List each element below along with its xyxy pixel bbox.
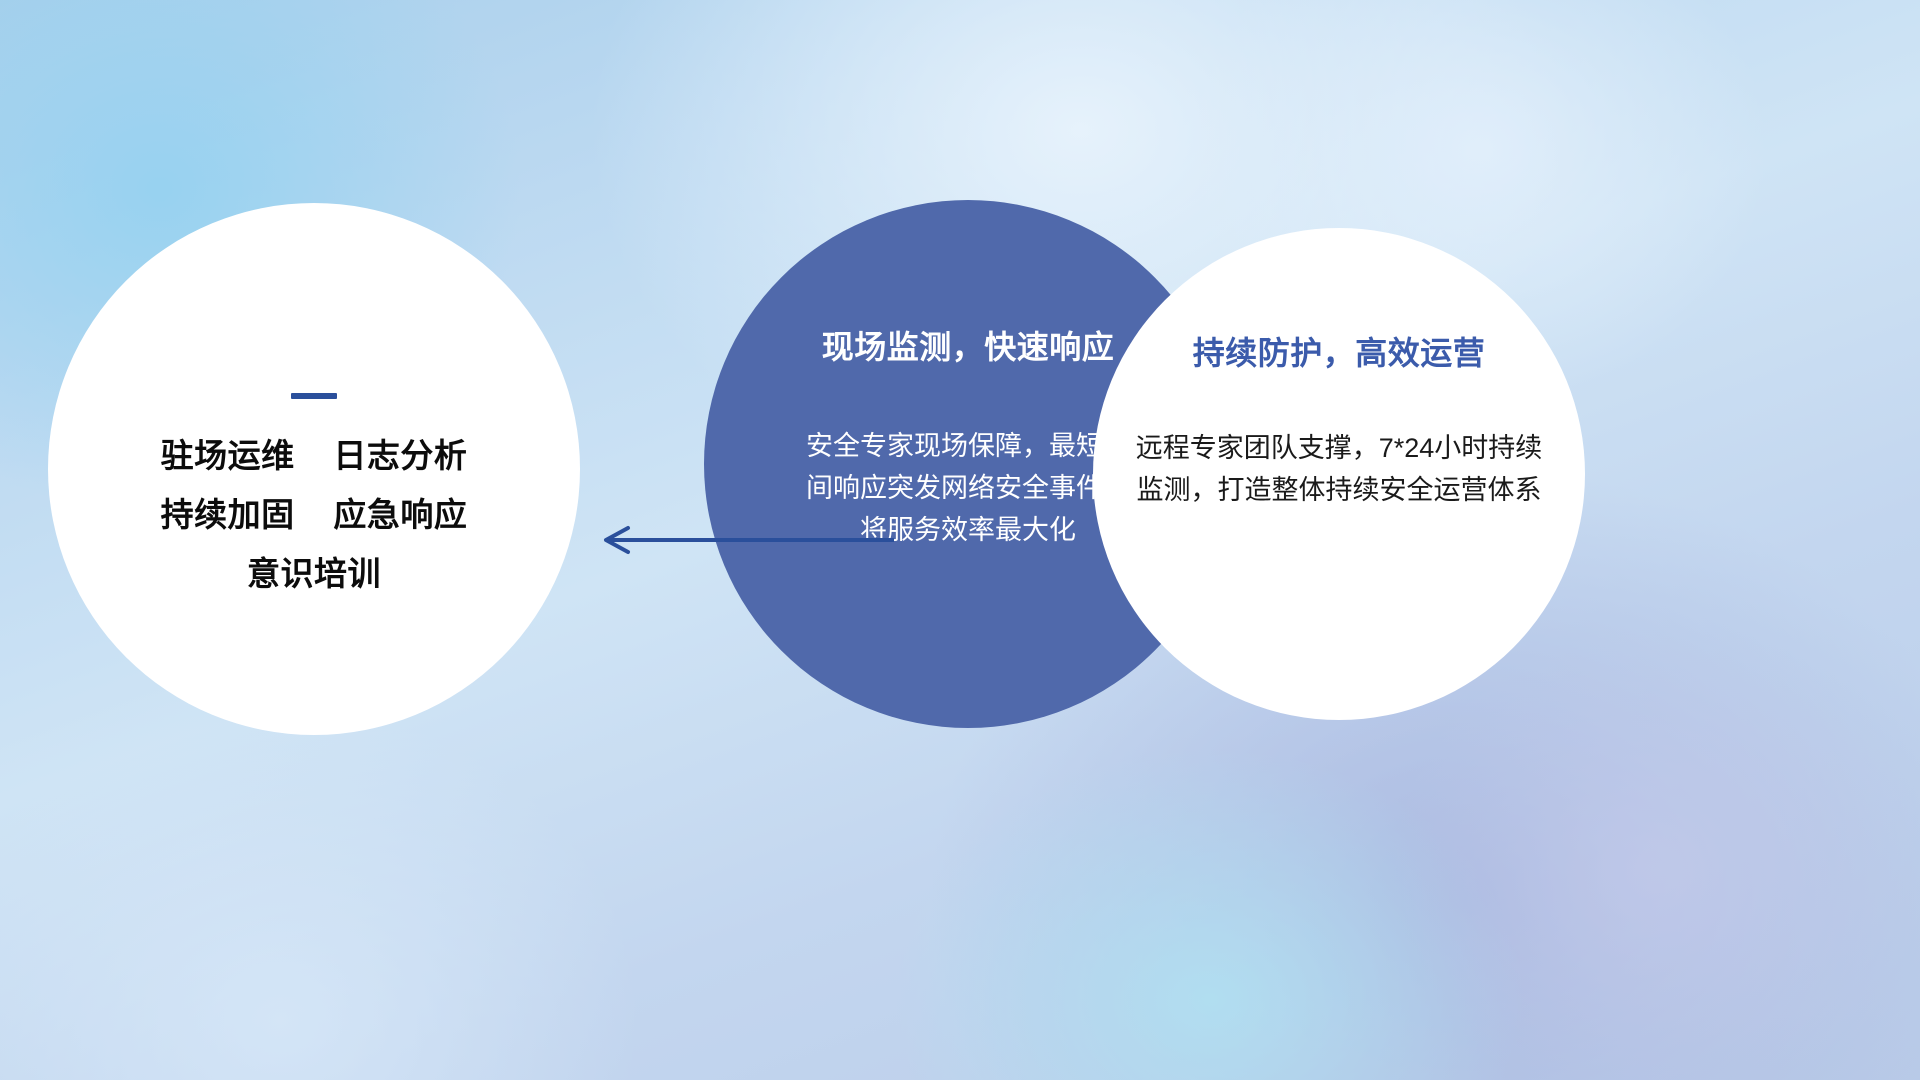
left-circle-keyword-list: 驻场运维 日志分析 持续加固 应急响应 意识培训 xyxy=(161,439,468,590)
left-circle-keyword-line: 持续加固 应急响应 xyxy=(161,498,468,531)
left-circle-keyword-line: 驻场运维 日志分析 xyxy=(161,439,468,472)
left-circle-keyword-line: 意识培训 xyxy=(161,557,468,590)
arrow-left-icon xyxy=(594,525,894,555)
middle-circle-title: 现场监测，快速响应 xyxy=(822,322,1115,368)
right-circle-title: 持续防护，高效运营 xyxy=(1193,328,1486,374)
arrow-left-icon-svg xyxy=(594,525,894,555)
right-circle-node[interactable]: 持续防护，高效运营 远程专家团队支撑，7*24小时持续监测，打造整体持续安全运营… xyxy=(1093,228,1585,720)
horizontal-dash-icon xyxy=(291,393,337,399)
diagram-stage: 现场监测，快速响应 安全专家现场保障，最短时间响应突发网络安全事件，将服务效率最… xyxy=(0,0,1920,1080)
right-circle-body: 远程专家团队支撑，7*24小时持续监测，打造整体持续安全运营体系 xyxy=(1124,428,1554,512)
left-circle-node[interactable]: 驻场运维 日志分析 持续加固 应急响应 意识培训 xyxy=(48,203,580,735)
